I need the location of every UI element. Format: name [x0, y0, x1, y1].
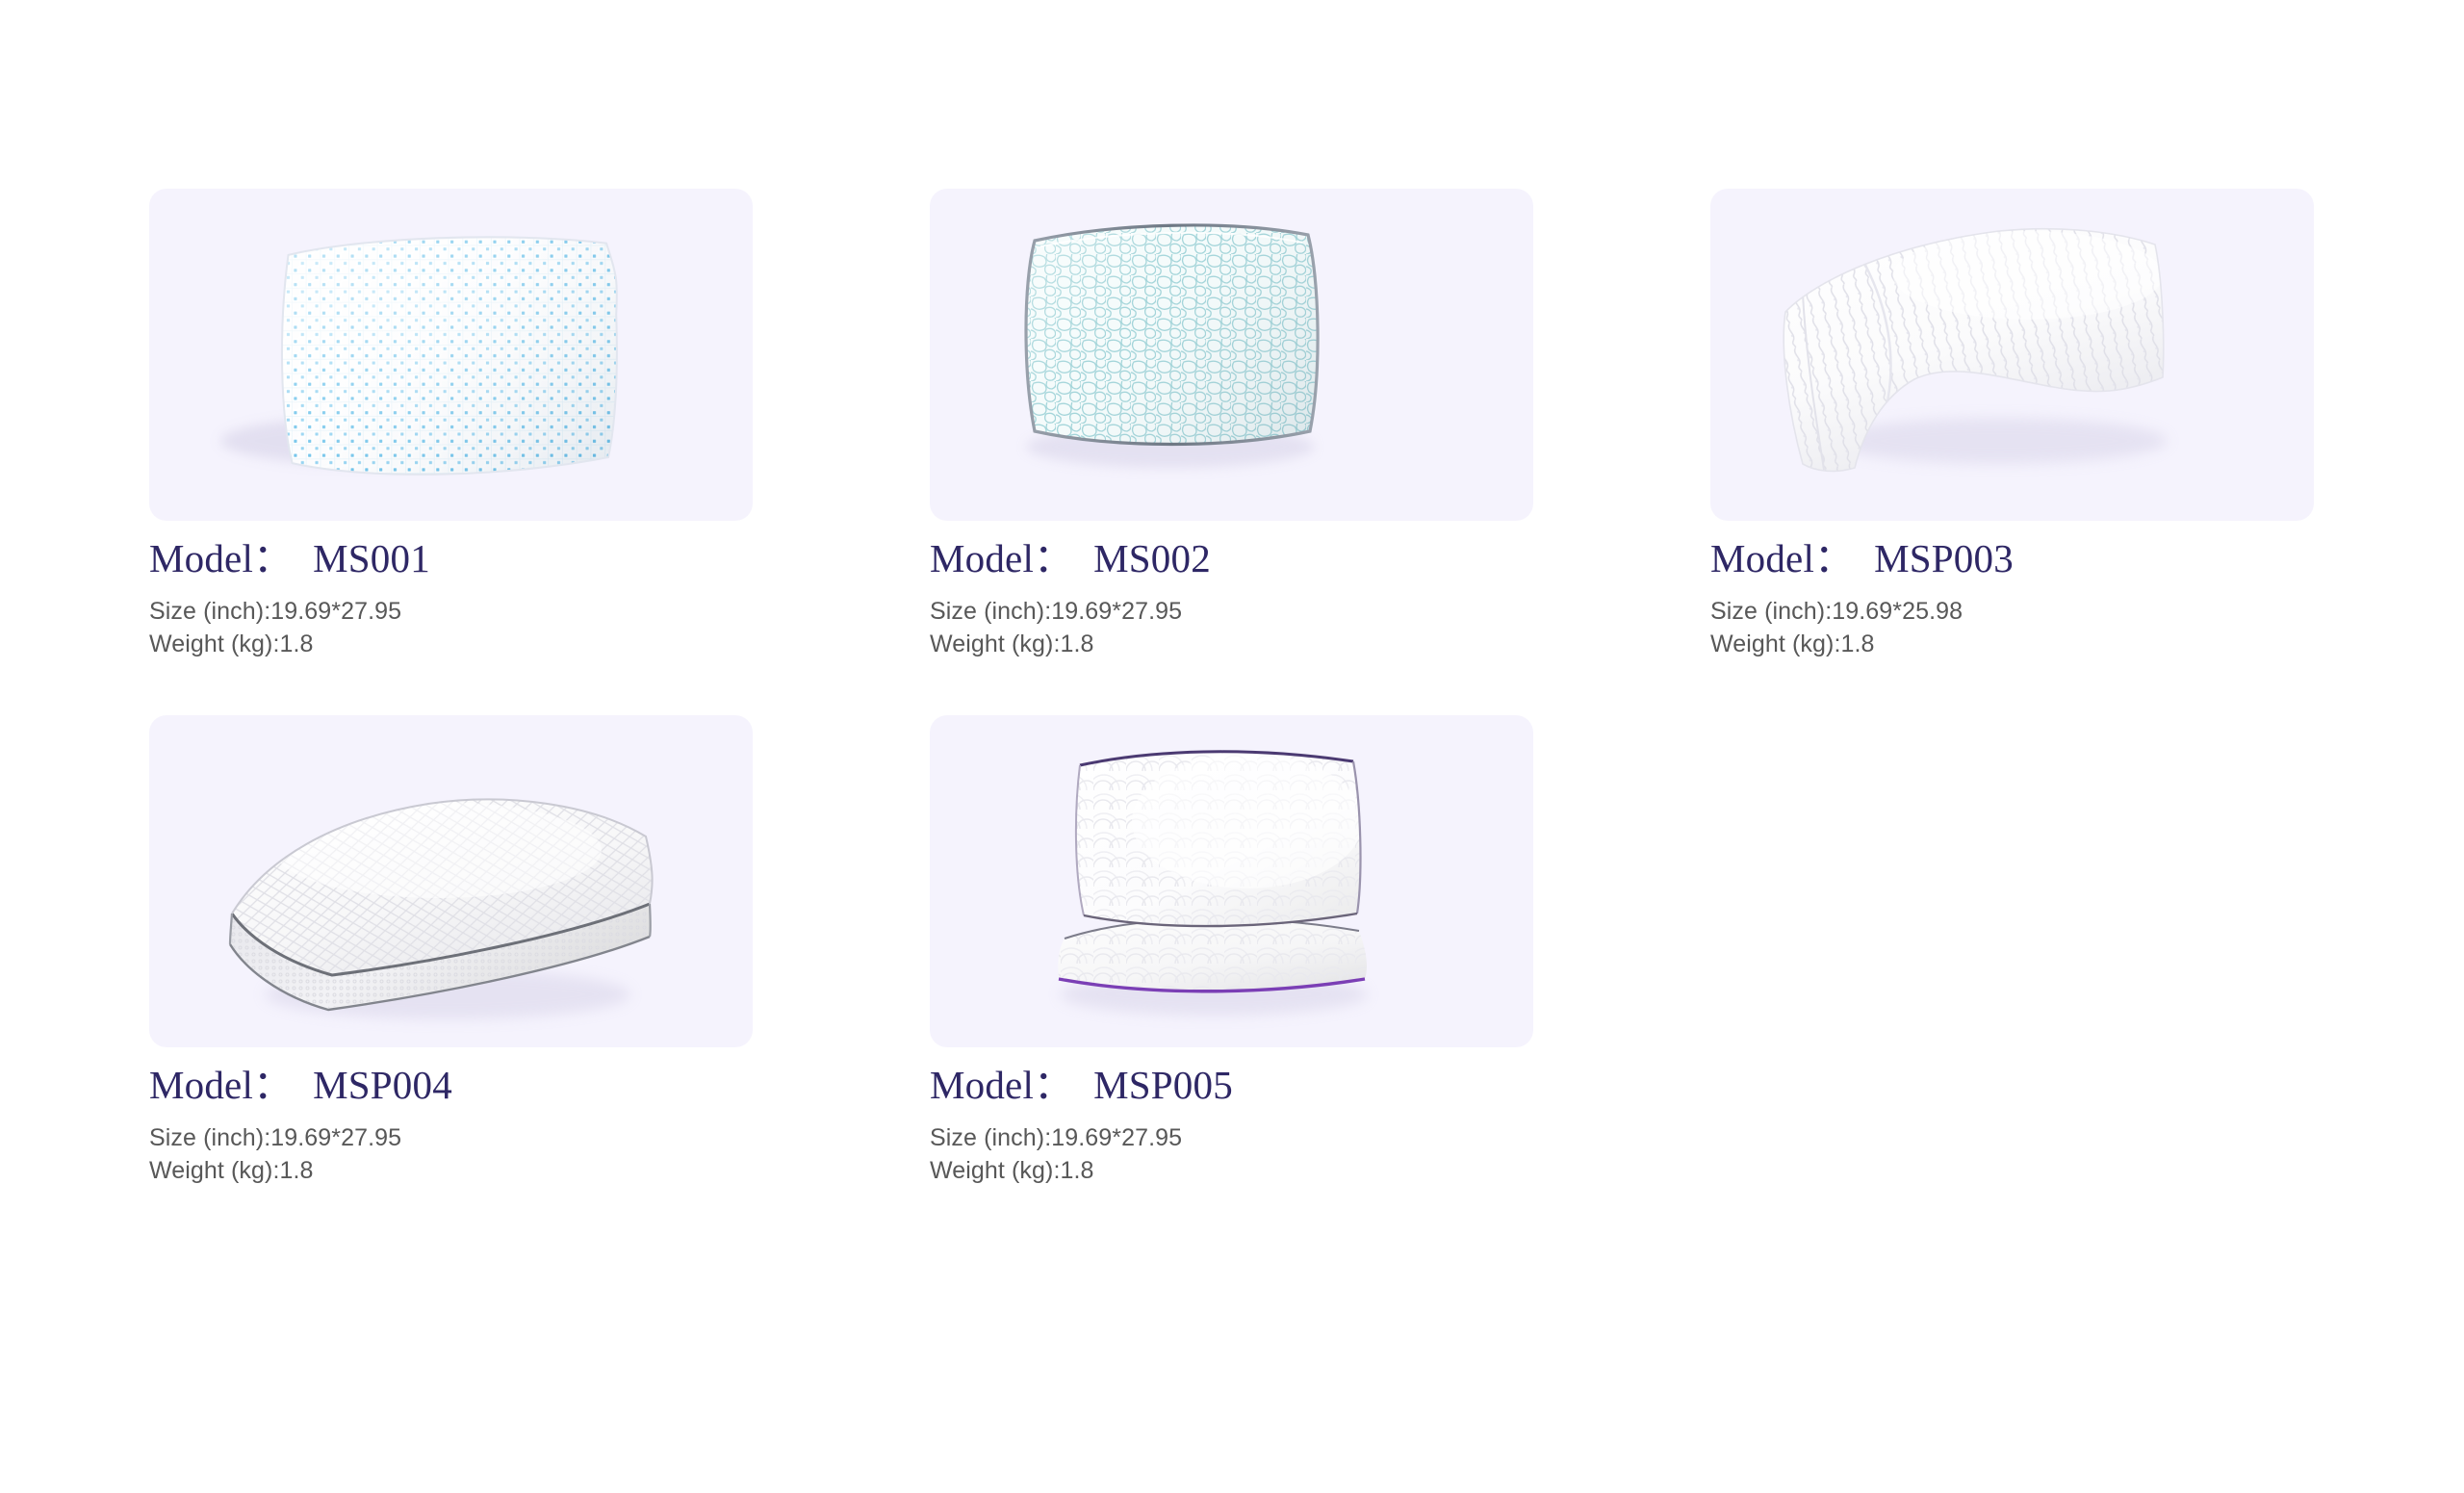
product-size: Size (inch):19.69*27.95 [930, 1121, 1533, 1155]
product-card-msp004[interactable]: Model： MSP004 Size (inch):19.69*27.95 We… [149, 715, 753, 1188]
product-weight: Weight (kg):1.8 [930, 1154, 1533, 1188]
pillow-cell-teal-icon [930, 189, 1533, 521]
product-size: Size (inch):19.69*27.95 [149, 1121, 753, 1155]
product-image-panel[interactable] [149, 715, 753, 1047]
product-image-panel[interactable] [149, 189, 753, 521]
product-grid: Model： MS001 Size (inch):19.69*27.95 Wei… [149, 189, 2313, 1188]
product-image-panel[interactable] [930, 715, 1533, 1047]
product-image-panel[interactable] [1710, 189, 2314, 521]
product-info: Model： MSP003 Size (inch):19.69*25.98 We… [1710, 521, 2314, 661]
product-info: Model： MS001 Size (inch):19.69*27.95 Wei… [149, 521, 753, 661]
product-weight: Weight (kg):1.8 [149, 1154, 753, 1188]
product-model: Model： MSP003 [1710, 534, 2314, 583]
product-card-ms002[interactable]: Model： MS002 Size (inch):19.69*27.95 Wei… [930, 189, 1533, 661]
pillow-stacked-purple-icon [930, 715, 1533, 1047]
product-weight: Weight (kg):1.8 [930, 628, 1533, 661]
product-card-msp003[interactable]: Model： MSP003 Size (inch):19.69*25.98 We… [1710, 189, 2314, 661]
product-model: Model： MSP004 [149, 1061, 753, 1110]
pillow-contour-white-icon [1710, 189, 2314, 521]
product-image-panel[interactable] [930, 189, 1533, 521]
product-model: Model： MSP005 [930, 1061, 1533, 1110]
product-model: Model： MS002 [930, 534, 1533, 583]
product-info: Model： MSP004 Size (inch):19.69*27.95 We… [149, 1047, 753, 1188]
product-size: Size (inch):19.69*27.95 [930, 595, 1533, 629]
product-catalog-page: Model： MS001 Size (inch):19.69*27.95 Wei… [0, 0, 2464, 1493]
product-info: Model： MS002 Size (inch):19.69*27.95 Wei… [930, 521, 1533, 661]
product-size: Size (inch):19.69*27.95 [149, 595, 753, 629]
pillow-gusset-grey-icon [149, 715, 753, 1047]
product-model: Model： MS001 [149, 534, 753, 583]
grid-empty-cell [1710, 715, 2314, 1188]
product-card-msp005[interactable]: Model： MSP005 Size (inch):19.69*27.95 We… [930, 715, 1533, 1188]
product-info: Model： MSP005 Size (inch):19.69*27.95 We… [930, 1047, 1533, 1188]
product-weight: Weight (kg):1.8 [1710, 628, 2314, 661]
product-size: Size (inch):19.69*25.98 [1710, 595, 2314, 629]
product-weight: Weight (kg):1.8 [149, 628, 753, 661]
pillow-mesh-blue-icon [149, 189, 753, 521]
product-card-ms001[interactable]: Model： MS001 Size (inch):19.69*27.95 Wei… [149, 189, 753, 661]
